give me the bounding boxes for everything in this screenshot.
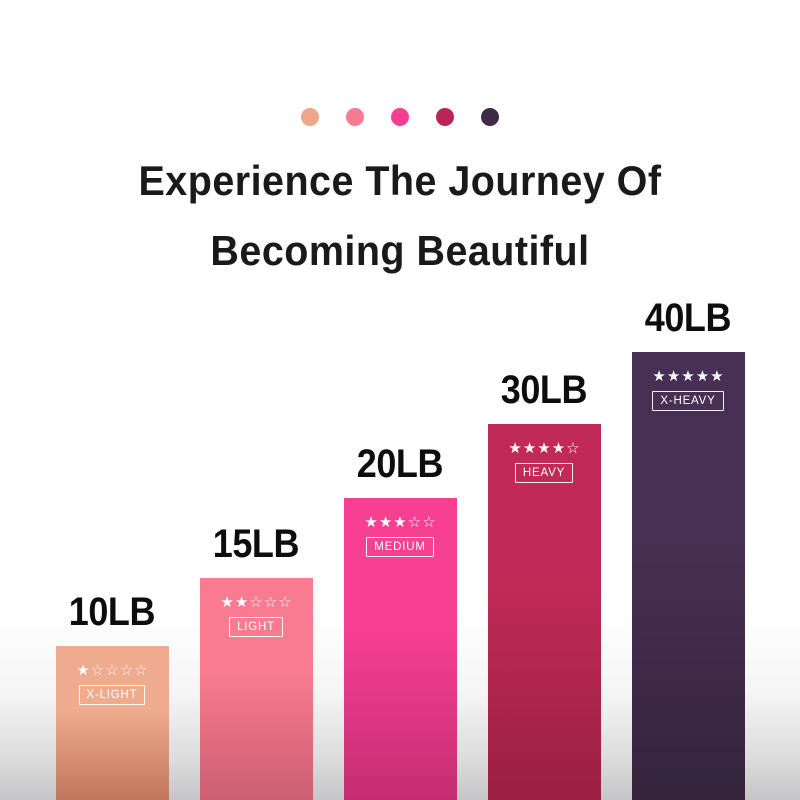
star-filled-icon: ★: [652, 369, 665, 384]
star-rating: ★★★☆☆: [364, 515, 435, 530]
bar-x-light: ★☆☆☆☆X-LIGHT: [56, 646, 169, 800]
star-rating: ★★★★☆: [508, 441, 579, 456]
bar-x-heavy: ★★★★★X-HEAVY: [632, 352, 745, 800]
star-filled-icon: ★: [393, 515, 406, 530]
star-filled-icon: ★: [696, 369, 709, 384]
star-empty-icon: ☆: [278, 595, 291, 610]
headline-line-2: Becoming Beautiful: [24, 216, 776, 286]
dot-heavy: [436, 108, 454, 126]
dot-x-heavy: [481, 108, 499, 126]
star-filled-icon: ★: [364, 515, 377, 530]
dot-x-light: [301, 108, 319, 126]
star-filled-icon: ★: [681, 369, 694, 384]
star-empty-icon: ☆: [422, 515, 435, 530]
bar-column-x-light: 10LB★☆☆☆☆X-LIGHT: [56, 240, 169, 800]
bar-column-x-heavy: 40LB★★★★★X-HEAVY: [632, 240, 745, 800]
star-empty-icon: ☆: [566, 441, 579, 456]
tier-label: MEDIUM: [366, 537, 433, 557]
star-filled-icon: ★: [379, 515, 392, 530]
bar-weight-label: 30LB: [501, 370, 587, 410]
star-empty-icon: ☆: [264, 595, 277, 610]
star-rating: ★☆☆☆☆: [76, 663, 147, 678]
bar-heavy: ★★★★☆HEAVY: [488, 424, 601, 800]
star-filled-icon: ★: [552, 441, 565, 456]
star-empty-icon: ☆: [249, 595, 262, 610]
promo-graphic: Experience The Journey Of Becoming Beaut…: [0, 0, 800, 800]
star-empty-icon: ☆: [105, 663, 118, 678]
tier-label: X-LIGHT: [79, 685, 146, 705]
resistance-level-bar-chart: 10LB★☆☆☆☆X-LIGHT15LB★★☆☆☆LIGHT20LB★★★☆☆M…: [0, 240, 800, 800]
bar-weight-label: 15LB: [213, 524, 299, 564]
bar-column-light: 15LB★★☆☆☆LIGHT: [200, 240, 313, 800]
star-filled-icon: ★: [220, 595, 233, 610]
tier-label: X-HEAVY: [652, 391, 723, 411]
bar-column-medium: 20LB★★★☆☆MEDIUM: [344, 240, 457, 800]
star-filled-icon: ★: [523, 441, 536, 456]
bar-light: ★★☆☆☆LIGHT: [200, 578, 313, 800]
star-rating: ★★★★★: [652, 369, 723, 384]
star-empty-icon: ☆: [408, 515, 421, 530]
bar-weight-label: 20LB: [357, 444, 443, 484]
star-rating: ★★☆☆☆: [220, 595, 291, 610]
star-empty-icon: ☆: [134, 663, 147, 678]
color-swatch-row: [0, 108, 800, 126]
dot-medium: [391, 108, 409, 126]
tier-label: LIGHT: [229, 617, 283, 637]
star-filled-icon: ★: [76, 663, 89, 678]
star-filled-icon: ★: [667, 369, 680, 384]
star-empty-icon: ☆: [91, 663, 104, 678]
dot-light: [346, 108, 364, 126]
star-filled-icon: ★: [537, 441, 550, 456]
page-title: Experience The Journey Of Becoming Beaut…: [0, 146, 800, 286]
bar-medium: ★★★☆☆MEDIUM: [344, 498, 457, 800]
star-filled-icon: ★: [710, 369, 723, 384]
star-filled-icon: ★: [508, 441, 521, 456]
star-empty-icon: ☆: [120, 663, 133, 678]
bar-weight-label: 40LB: [645, 298, 731, 338]
headline-line-1: Experience The Journey Of: [24, 146, 776, 216]
tier-label: HEAVY: [515, 463, 573, 483]
star-filled-icon: ★: [235, 595, 248, 610]
bar-weight-label: 10LB: [69, 592, 155, 632]
bar-column-heavy: 30LB★★★★☆HEAVY: [488, 240, 601, 800]
